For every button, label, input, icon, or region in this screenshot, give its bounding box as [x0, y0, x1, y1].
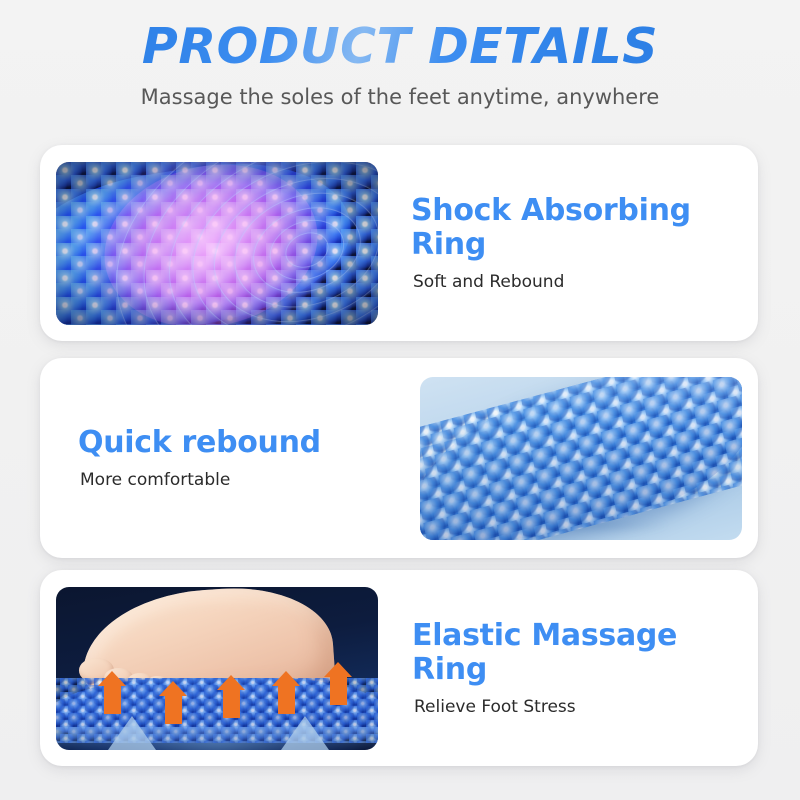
page-header: PRODUCT DETAILS Massage the soles of the… — [0, 0, 800, 109]
photo-vignette — [56, 162, 378, 325]
feature-caption: Soft and Rebound — [413, 272, 740, 292]
feature-heading: Elastic Massage Ring — [412, 619, 740, 687]
pressure-arrow-5 — [330, 675, 347, 705]
feature-card-elastic-massage-ring[interactable]: Elastic Massage Ring Relieve Foot Stress — [40, 570, 758, 766]
platform-wedge-right — [281, 716, 329, 750]
page-subtitle: Massage the soles of the feet anytime, a… — [0, 85, 800, 109]
feature-card-quick-rebound[interactable]: Quick rebound More comfortable — [40, 358, 758, 558]
feature-card-shock-absorbing-ring[interactable]: Shock Absorbing Ring Soft and Rebound — [40, 145, 758, 341]
pressure-arrow-1 — [104, 684, 121, 714]
feature-text-column: Quick rebound More comfortable — [40, 426, 420, 490]
pressure-arrow-4 — [278, 684, 295, 714]
insole-shockwave-ripples-photo — [56, 162, 378, 325]
feature-caption: Relieve Foot Stress — [414, 697, 740, 717]
platform-wedge-left — [108, 716, 156, 750]
feature-heading: Shock Absorbing Ring — [411, 194, 740, 262]
pressure-arrow-3 — [223, 688, 240, 718]
product-details-page: PRODUCT DETAILS Massage the soles of the… — [0, 0, 800, 800]
insole-shading-overlay — [420, 377, 742, 540]
foot-on-insole-arrows-photo — [56, 587, 378, 750]
insole-curved-flex-photo — [420, 377, 742, 540]
platform-base — [56, 727, 378, 750]
pressure-arrow-2 — [165, 694, 182, 724]
curved-insole-body — [420, 377, 742, 540]
feature-text-column: Shock Absorbing Ring Soft and Rebound — [378, 194, 758, 292]
feature-heading: Quick rebound — [78, 426, 402, 460]
page-title: PRODUCT DETAILS — [0, 22, 800, 71]
feature-text-column: Elastic Massage Ring Relieve Foot Stress — [378, 619, 758, 717]
feature-caption: More comfortable — [80, 470, 402, 490]
